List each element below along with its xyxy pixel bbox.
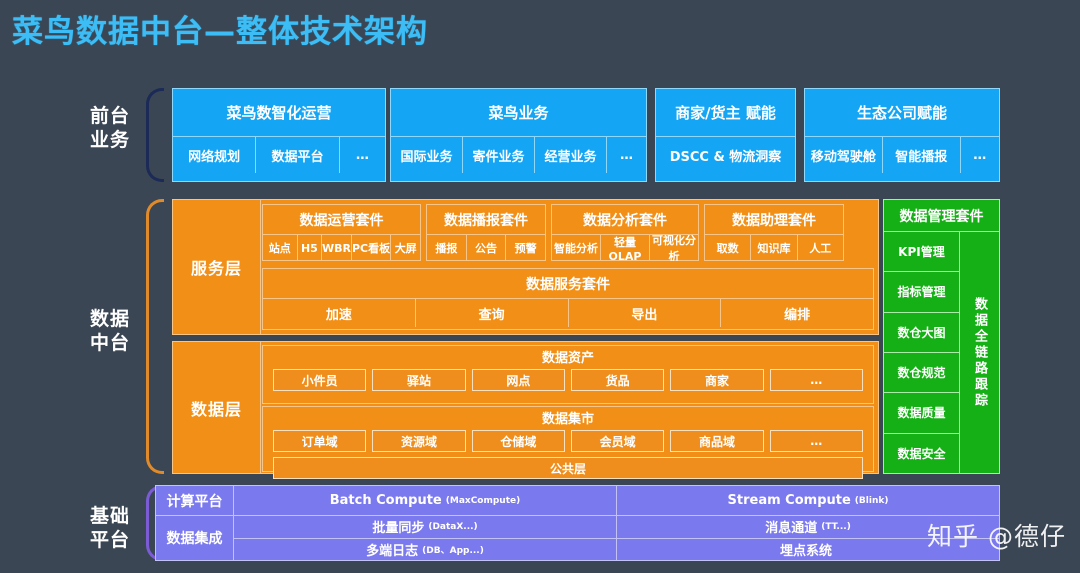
base-cell-batch-sync[interactable]: 批量同步 (DataX...) [234, 516, 617, 538]
base-row-integration: 数据集成 批量同步 (DataX...) 消息通道 (TT...) 多端日志 [156, 516, 999, 560]
base-row-compute: 计算平台 Batch Compute (MaxCompute) Stream C… [156, 486, 999, 516]
data-asset-tag[interactable]: 网点 [472, 369, 565, 391]
data-assets-title: 数据资产 [273, 349, 863, 369]
data-asset-tag-more[interactable]: … [770, 369, 863, 391]
service-item[interactable]: 导出 [569, 299, 722, 327]
frontoffice-group-2-title: 商家/货主 赋能 [656, 89, 795, 137]
governance-vertical-label: 数据全链路跟踪 [960, 232, 999, 473]
frontoffice-item[interactable]: 网络规划 [173, 137, 256, 173]
frontoffice-item[interactable]: 移动驾驶舱 [805, 137, 883, 173]
row-label-frontoffice-line1: 前台 [75, 105, 145, 129]
frontoffice-group-2-items: DSCC & 物流洞察 [656, 137, 795, 173]
suite-item[interactable]: 大屏 [391, 235, 420, 261]
row-label-midplatform: 数据 中台 [75, 308, 145, 356]
row-label-midplatform-line2: 中台 [75, 332, 145, 356]
suite-item[interactable]: 人工 [798, 235, 843, 261]
suite-item[interactable]: H5 [298, 235, 323, 261]
service-layer-panel: 服务层 数据运营套件 站点 H5 WBR PC看板 大屏 数据播报套件 播报 公… [172, 199, 879, 335]
base-cell-text: Batch Compute [330, 493, 442, 508]
governance-item[interactable]: 指标管理 [884, 272, 959, 312]
base-cell-note: (MaxCompute) [446, 496, 520, 506]
frontoffice-item[interactable]: 寄件业务 [463, 137, 535, 173]
suite-item[interactable]: 取数 [705, 235, 751, 261]
governance-item[interactable]: 数仓大图 [884, 313, 959, 353]
governance-panel[interactable]: 数据管理套件 KPI管理 指标管理 数仓大图 数仓规范 数据质量 数据安全 数据… [883, 199, 1000, 474]
suite-data-service-title: 数据服务套件 [263, 269, 873, 299]
row-label-base: 基础 平台 [75, 505, 145, 553]
data-mart-title: 数据集市 [273, 410, 863, 430]
base-row-integration-line-2: 多端日志 (DB、App...) 埋点系统 [234, 539, 999, 561]
suite-data-broadcast-title: 数据播报套件 [427, 205, 545, 235]
base-row-compute-cells: Batch Compute (MaxCompute) Stream Comput… [234, 486, 999, 515]
suite-item[interactable]: 知识库 [751, 235, 797, 261]
data-layer-label: 数据层 [173, 342, 261, 473]
suite-item[interactable]: 播报 [427, 235, 467, 261]
data-layer-panel: 数据层 数据资产 小件员 驿站 网点 货品 商家 … 数据集市 订单域 资源域 … [172, 341, 879, 474]
suite-item[interactable]: PC看板 [352, 235, 392, 261]
frontoffice-group-0-items: 网络规划 数据平台 … [173, 137, 385, 173]
data-asset-tag[interactable]: 货品 [571, 369, 664, 391]
data-asset-tag[interactable]: 小件员 [273, 369, 366, 391]
base-cell-text: 埋点系统 [780, 540, 832, 559]
frontoffice-group-3-items: 移动驾驶舱 智能播报 … [805, 137, 999, 173]
base-cell-note: (TT...) [821, 522, 851, 532]
suite-data-service-items: 加速 查询 导出 编排 [263, 299, 873, 327]
suite-item[interactable]: 智能分析 [552, 235, 601, 261]
data-mart-items: 订单域 资源域 仓储域 会员域 商品域 … [273, 430, 863, 452]
data-assets-block[interactable]: 数据资产 小件员 驿站 网点 货品 商家 … [262, 345, 874, 404]
suite-data-service[interactable]: 数据服务套件 加速 查询 导出 编排 [262, 268, 874, 330]
row-label-midplatform-line1: 数据 [75, 308, 145, 332]
suite-data-assistant-items: 取数 知识库 人工 [705, 235, 843, 261]
suite-data-operations[interactable]: 数据运营套件 站点 H5 WBR PC看板 大屏 [262, 204, 421, 261]
suite-data-assistant[interactable]: 数据助理套件 取数 知识库 人工 [704, 204, 844, 261]
bracket-midplatform [146, 199, 164, 474]
data-mart-tag[interactable]: 仓储域 [472, 430, 565, 452]
base-cell-multi-log[interactable]: 多端日志 (DB、App...) [234, 539, 617, 561]
frontoffice-item[interactable]: DSCC & 物流洞察 [656, 137, 795, 173]
governance-item[interactable]: 数据安全 [884, 434, 959, 473]
data-mart-tag[interactable]: 会员域 [571, 430, 664, 452]
frontoffice-group-1-items: 国际业务 寄件业务 经营业务 … [391, 137, 646, 173]
data-mart-tag[interactable]: 商品域 [670, 430, 763, 452]
suite-data-analysis-items: 智能分析 轻量OLAP 可视化分析 [552, 235, 698, 261]
base-cell-note: (Blink) [855, 496, 889, 506]
base-cell-message-channel[interactable]: 消息通道 (TT...) [617, 516, 999, 538]
suite-item[interactable]: 轻量OLAP [601, 235, 650, 261]
data-asset-tag[interactable]: 商家 [670, 369, 763, 391]
base-platform-panel: 计算平台 Batch Compute (MaxCompute) Stream C… [155, 485, 1000, 561]
row-label-frontoffice-line2: 业务 [75, 129, 145, 153]
row-label-base-line1: 基础 [75, 505, 145, 529]
frontoffice-group-3-title: 生态公司赋能 [805, 89, 999, 137]
data-mart-tag[interactable]: 订单域 [273, 430, 366, 452]
suite-item[interactable]: 站点 [263, 235, 298, 261]
frontoffice-item[interactable]: 数据平台 [256, 137, 339, 173]
base-cell-note: (DB、App...) [422, 543, 484, 556]
governance-item[interactable]: 数仓规范 [884, 353, 959, 393]
base-row-compute-label: 计算平台 [156, 486, 234, 515]
governance-item[interactable]: KPI管理 [884, 232, 959, 272]
governance-item[interactable]: 数据质量 [884, 393, 959, 433]
suite-item[interactable]: 可视化分析 [650, 235, 698, 261]
row-label-frontoffice: 前台 业务 [75, 105, 145, 153]
bracket-frontoffice [146, 88, 164, 182]
frontoffice-group-3[interactable]: 生态公司赋能 移动驾驶舱 智能播报 … [804, 88, 1000, 182]
suite-data-broadcast-items: 播报 公告 预警 [427, 235, 545, 261]
data-assets-items: 小件员 驿站 网点 货品 商家 … [273, 369, 863, 391]
suite-data-broadcast[interactable]: 数据播报套件 播报 公告 预警 [426, 204, 546, 261]
page-title: 菜鸟数据中台—整体技术架构 [12, 6, 428, 51]
base-cell-text: 消息通道 [765, 517, 817, 536]
frontoffice-group-0-title: 菜鸟数智化运营 [173, 89, 385, 137]
base-row-integration-line-1: 批量同步 (DataX...) 消息通道 (TT...) [234, 516, 999, 539]
frontoffice-group-1[interactable]: 菜鸟业务 国际业务 寄件业务 经营业务 … [390, 88, 647, 182]
frontoffice-group-2[interactable]: 商家/货主 赋能 DSCC & 物流洞察 [655, 88, 796, 182]
governance-items: KPI管理 指标管理 数仓大图 数仓规范 数据质量 数据安全 [884, 232, 960, 473]
base-cell-text: Stream Compute [728, 493, 851, 508]
data-mart-tag-more[interactable]: … [770, 430, 863, 452]
suite-data-operations-title: 数据运营套件 [263, 205, 420, 235]
row-label-base-line2: 平台 [75, 529, 145, 553]
suite-item[interactable]: 公告 [467, 235, 507, 261]
data-mart-tag[interactable]: 资源域 [372, 430, 465, 452]
suite-data-analysis-title: 数据分析套件 [552, 205, 698, 235]
suite-item[interactable]: 预警 [506, 235, 545, 261]
base-cell-stream-compute[interactable]: Stream Compute (Blink) [617, 486, 999, 515]
frontoffice-item[interactable]: 经营业务 [535, 137, 607, 173]
frontoffice-item[interactable]: 国际业务 [391, 137, 463, 173]
service-item[interactable]: 加速 [263, 299, 416, 327]
frontoffice-group-1-title: 菜鸟业务 [391, 89, 646, 137]
suite-data-assistant-title: 数据助理套件 [705, 205, 843, 235]
base-cell-text: 多端日志 [366, 540, 418, 559]
frontoffice-item-more[interactable]: … [340, 137, 385, 173]
data-asset-tag[interactable]: 驿站 [372, 369, 465, 391]
data-mart-block[interactable]: 数据集市 订单域 资源域 仓储域 会员域 商品域 … 公共层 [262, 406, 874, 472]
base-cell-tracking-system[interactable]: 埋点系统 [617, 539, 999, 561]
base-row-integration-label: 数据集成 [156, 516, 234, 560]
suite-data-analysis[interactable]: 数据分析套件 智能分析 轻量OLAP 可视化分析 [551, 204, 699, 261]
base-cell-note: (DataX...) [428, 522, 477, 532]
frontoffice-group-0[interactable]: 菜鸟数智化运营 网络规划 数据平台 … [172, 88, 386, 182]
service-item[interactable]: 查询 [416, 299, 569, 327]
service-item[interactable]: 编排 [721, 299, 873, 327]
base-cell-text: 批量同步 [372, 517, 424, 536]
frontoffice-item-more[interactable]: … [607, 137, 646, 173]
base-row-integration-cells: 批量同步 (DataX...) 消息通道 (TT...) 多端日志 (DB、Ap… [234, 516, 999, 560]
architecture-diagram: 菜鸟数据中台—整体技术架构 前台 业务 数据 中台 基础 平台 菜鸟数智化运营 … [0, 0, 1080, 573]
common-layer-bar[interactable]: 公共层 [273, 457, 863, 479]
suite-data-operations-items: 站点 H5 WBR PC看板 大屏 [263, 235, 420, 261]
base-cell-batch-compute[interactable]: Batch Compute (MaxCompute) [234, 486, 617, 515]
base-row-compute-line: Batch Compute (MaxCompute) Stream Comput… [234, 486, 999, 515]
service-layer-label: 服务层 [173, 200, 261, 334]
frontoffice-item[interactable]: 智能播报 [883, 137, 961, 173]
governance-title: 数据管理套件 [884, 200, 999, 232]
governance-body: KPI管理 指标管理 数仓大图 数仓规范 数据质量 数据安全 数据全链路跟踪 [884, 232, 999, 473]
suite-item[interactable]: WBR [322, 235, 352, 261]
frontoffice-item-more[interactable]: … [961, 137, 999, 173]
